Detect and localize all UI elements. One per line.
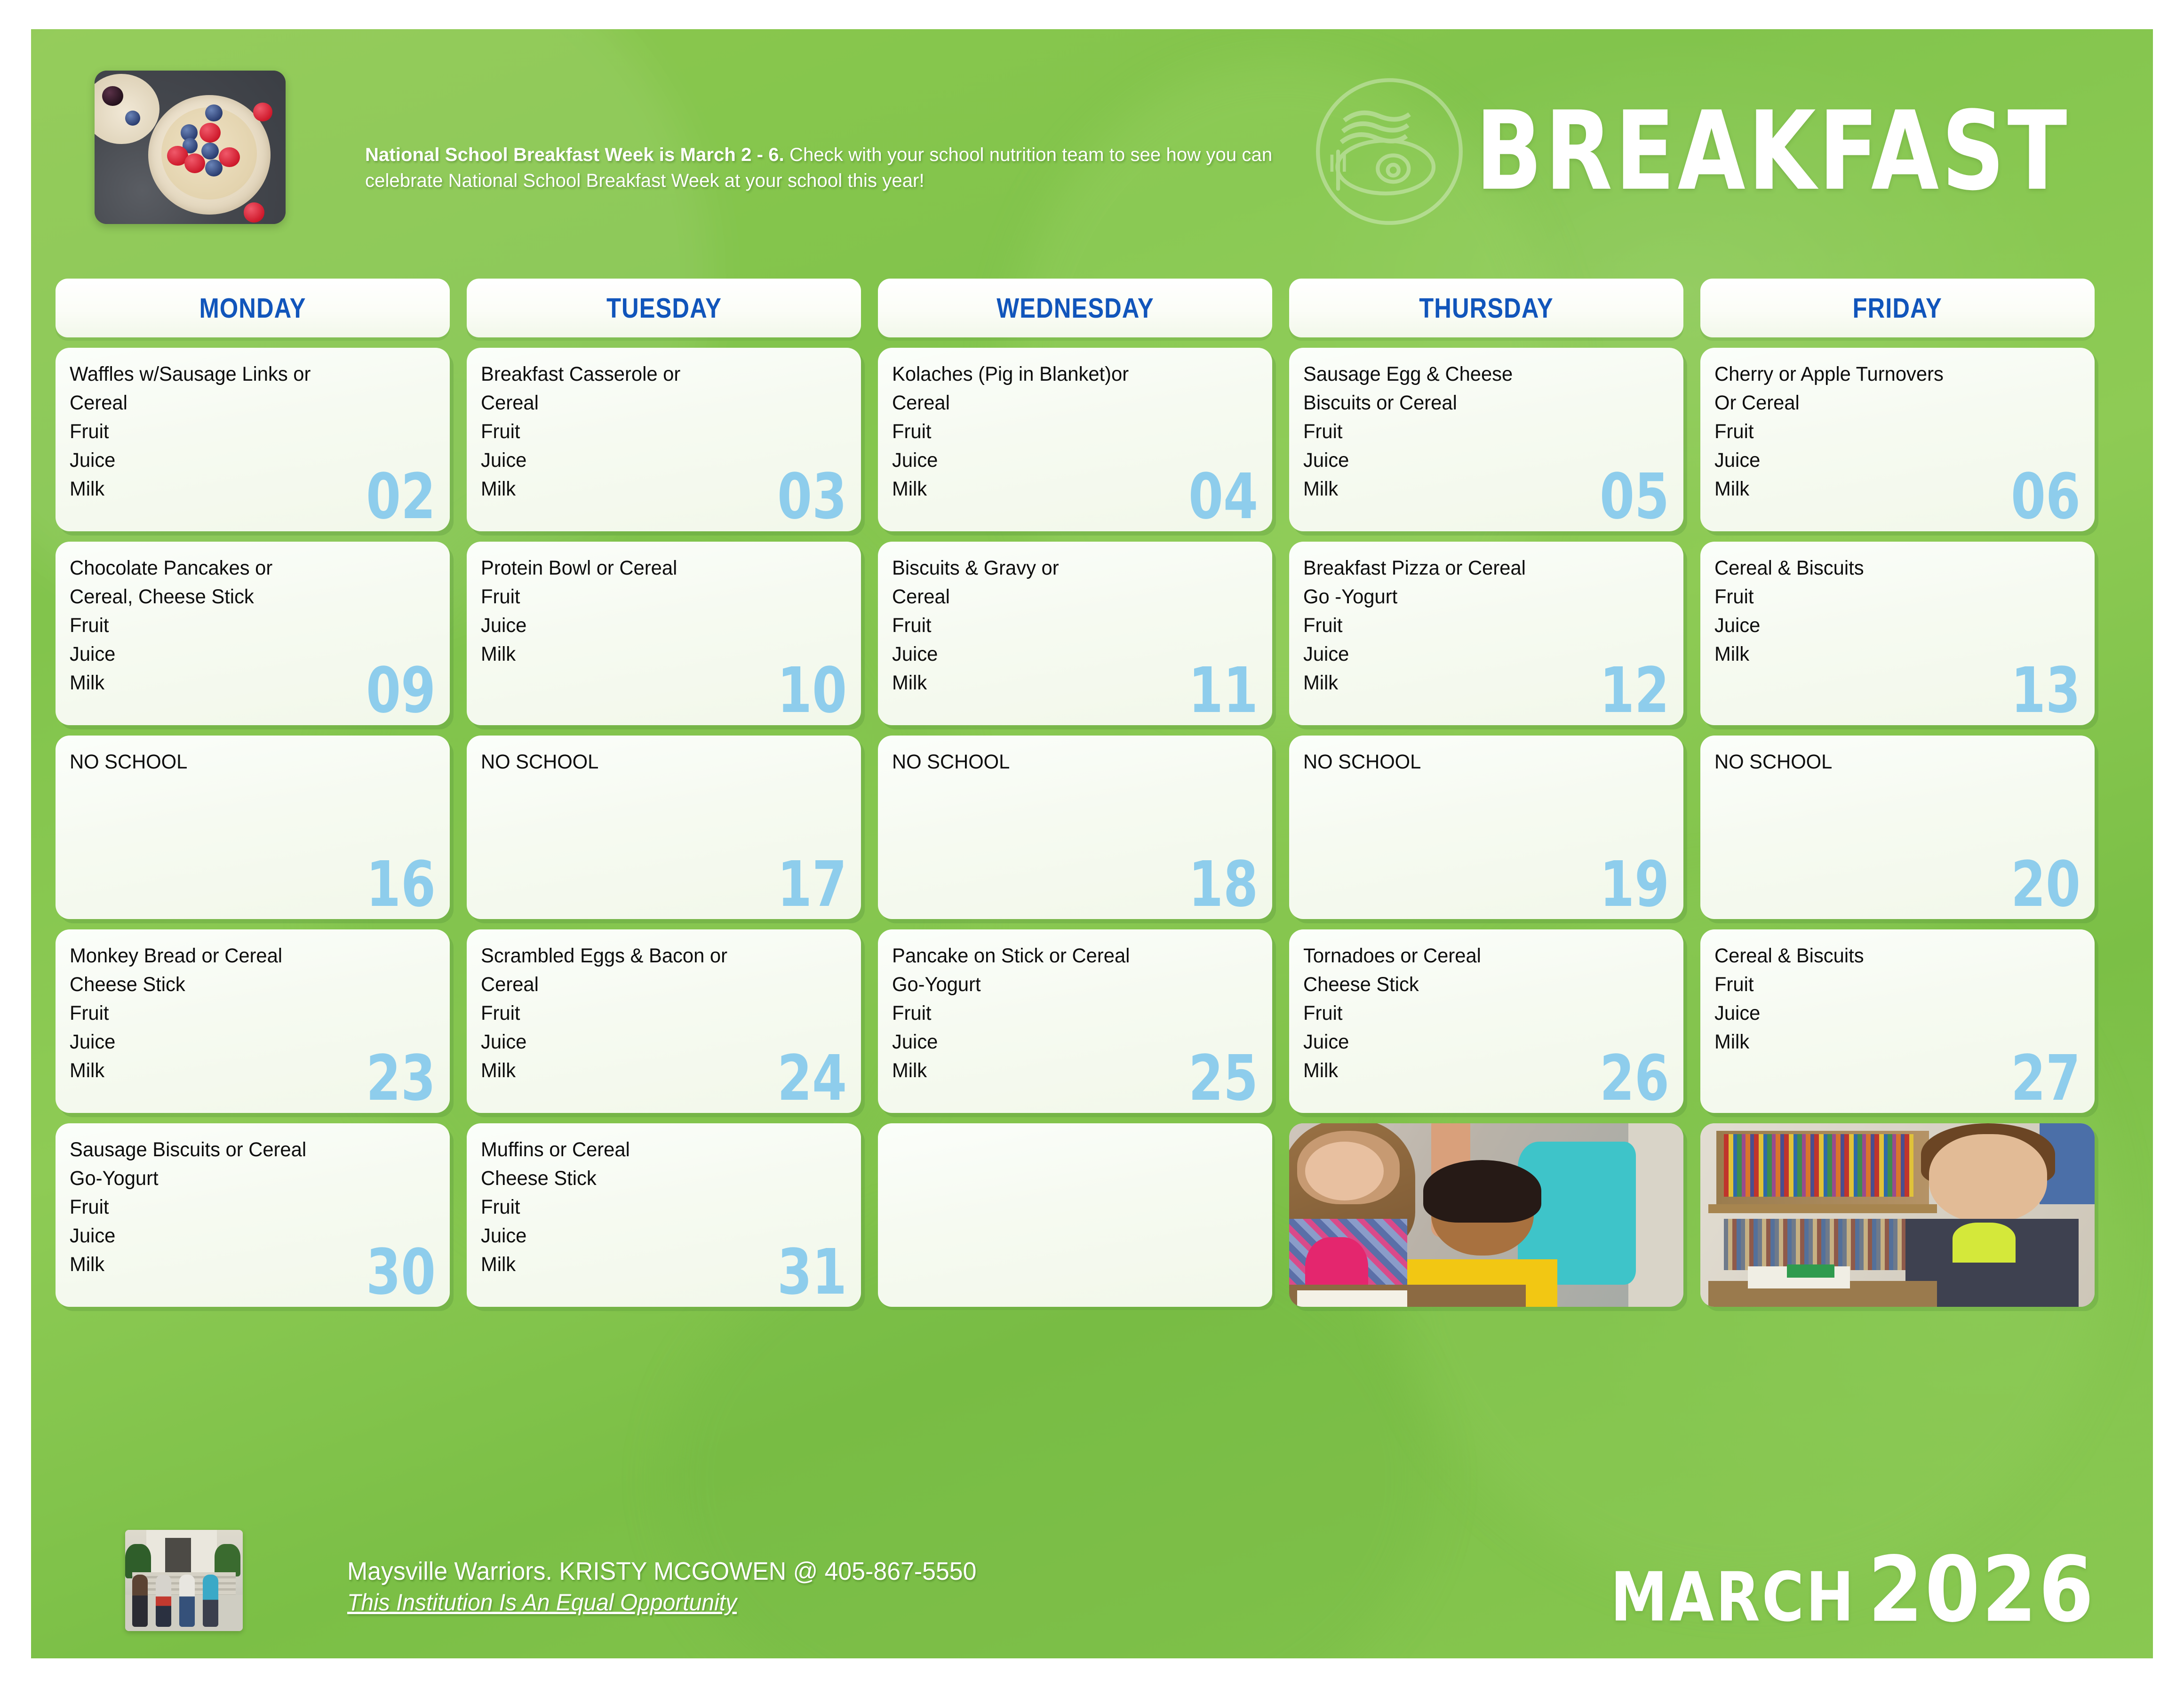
calendar-cell-menu[interactable]: Sausage Egg & CheeseBiscuits or CerealFr… (1289, 348, 1683, 531)
calendar-cell-menu[interactable]: Cereal & BiscuitsFruitJuiceMilk13 (1700, 542, 2095, 725)
menu-item: Milk (481, 475, 836, 504)
menu-item: Or Cereal (1714, 389, 2070, 417)
menu-item: Cereal (892, 389, 1247, 417)
menu-item: Juice (1714, 611, 2070, 640)
school-contact-line: Maysville Warriors. KRISTY MCGOWEN @ 405… (347, 1556, 976, 1588)
calendar-cell-menu[interactable]: Breakfast Pizza or CerealGo -YogurtFruit… (1289, 542, 1683, 725)
menu-item: Milk (481, 1250, 836, 1279)
menu-item: Breakfast Pizza or Cereal (1303, 554, 1658, 583)
menu-item: Protein Bowl or Cereal (481, 554, 836, 583)
menu-item: Scrambled Eggs & Bacon or (481, 942, 836, 970)
menu-item: Milk (892, 669, 1247, 697)
menu-item: Fruit (892, 417, 1247, 446)
menu-item: Milk (1303, 669, 1658, 697)
promo-text-bold: National School Breakfast Week is March … (365, 144, 784, 165)
menu-item: Cereal (481, 970, 836, 999)
menu-item: Go-Yogurt (70, 1164, 425, 1193)
menu-item-list: NO SCHOOL (481, 748, 847, 776)
menu-item: Cereal & Biscuits (1714, 942, 2070, 970)
oatmeal-berries-photo (95, 71, 286, 224)
calendar-cell-no-school[interactable]: NO SCHOOL16 (56, 736, 450, 919)
brand-lockup: BREAKFAST (1312, 74, 2101, 229)
menu-item: Fruit (70, 999, 425, 1028)
calendar-cell-menu[interactable]: Waffles w/Sausage Links orCerealFruitJui… (56, 348, 450, 531)
menu-item: Juice (1303, 446, 1658, 475)
calendar-cell-no-school[interactable]: NO SCHOOL19 (1289, 736, 1683, 919)
date-number: 18 (1188, 854, 1258, 916)
day-header-label: TUESDAY (606, 292, 721, 324)
breakfast-menu-poster: National School Breakfast Week is March … (31, 29, 2153, 1658)
menu-item: Milk (1714, 475, 2070, 504)
menu-item-list: Breakfast Casserole orCerealFruitJuiceMi… (481, 360, 847, 504)
menu-item: NO SCHOOL (481, 748, 836, 776)
menu-item: Milk (481, 640, 836, 669)
calendar-cell-menu[interactable]: Chocolate Pancakes orCereal, Cheese Stic… (56, 542, 450, 725)
menu-item: NO SCHOOL (1714, 748, 2070, 776)
calendar-cell-menu[interactable]: Scrambled Eggs & Bacon orCerealFruitJuic… (467, 929, 861, 1113)
day-header-thursday: THURSDAY (1289, 279, 1683, 337)
calendar-cell-no-school[interactable]: NO SCHOOL17 (467, 736, 861, 919)
menu-item: Milk (481, 1056, 836, 1085)
menu-item: Breakfast Casserole or (481, 360, 836, 389)
menu-item: Juice (892, 446, 1247, 475)
menu-item: Biscuits & Gravy or (892, 554, 1247, 583)
calendar-cell-no-school[interactable]: NO SCHOOL20 (1700, 736, 2095, 919)
month-year-label: MARCH 2026 (1610, 1544, 2096, 1636)
day-header-label: THURSDAY (1419, 292, 1553, 324)
menu-item: Fruit (70, 1193, 425, 1222)
menu-item-list: NO SCHOOL (70, 748, 436, 776)
menu-item: Sausage Egg & Cheese (1303, 360, 1658, 389)
menu-item: Fruit (481, 1193, 836, 1222)
menu-item: Juice (481, 611, 836, 640)
menu-item: Kolaches (Pig in Blanket)or (892, 360, 1247, 389)
menu-item: Juice (1303, 640, 1658, 669)
date-number: 10 (777, 660, 847, 722)
calendar-cell-menu[interactable]: Cherry or Apple TurnoversOr CerealFruitJ… (1700, 348, 2095, 531)
menu-item: Fruit (1303, 611, 1658, 640)
menu-item: Milk (1303, 475, 1658, 504)
menu-item: Juice (892, 1028, 1247, 1056)
menu-item: Cereal (481, 389, 836, 417)
menu-item: Cereal (70, 389, 425, 417)
calendar-cell-menu[interactable]: Kolaches (Pig in Blanket)orCerealFruitJu… (878, 348, 1272, 531)
date-number: 17 (777, 854, 847, 916)
calendar-cell-menu[interactable]: Cereal & BiscuitsFruitJuiceMilk27 (1700, 929, 2095, 1113)
brand-title: BREAKFAST (1475, 97, 2070, 206)
menu-item-list: Chocolate Pancakes orCereal, Cheese Stic… (70, 554, 436, 697)
menu-item: Milk (892, 475, 1247, 504)
date-number: 20 (2011, 854, 2080, 916)
menu-item: Juice (1714, 446, 2070, 475)
menu-item: Fruit (892, 999, 1247, 1028)
menu-item: Cherry or Apple Turnovers (1714, 360, 2070, 389)
menu-item-list: NO SCHOOL (1303, 748, 1669, 776)
menu-item: Milk (70, 1250, 425, 1279)
menu-item: Cereal & Biscuits (1714, 554, 2070, 583)
menu-item: Fruit (1303, 417, 1658, 446)
day-header-friday: FRIDAY (1700, 279, 2095, 337)
students-entering-school-photo (125, 1530, 243, 1631)
menu-item-list: Protein Bowl or CerealFruitJuiceMilk (481, 554, 847, 669)
menu-item: Fruit (481, 417, 836, 446)
menu-item: Fruit (70, 611, 425, 640)
week-row: NO SCHOOL16NO SCHOOL17NO SCHOOL18NO SCHO… (56, 736, 2130, 919)
day-header-tuesday: TUESDAY (467, 279, 861, 337)
menu-item: Fruit (1714, 583, 2070, 611)
week-row: Monkey Bread or CerealCheese StickFruitJ… (56, 929, 2130, 1113)
equal-opportunity-statement: This Institution Is An Equal Opportunity (347, 1587, 976, 1618)
day-header-label: FRIDAY (1853, 292, 1942, 324)
menu-item-list: NO SCHOOL (892, 748, 1258, 776)
menu-item-list: Sausage Egg & CheeseBiscuits or CerealFr… (1303, 360, 1669, 504)
calendar-cell-menu[interactable]: Tornadoes or CerealCheese StickFruitJuic… (1289, 929, 1683, 1113)
menu-item: Juice (70, 640, 425, 669)
calendar-cell-menu[interactable]: Monkey Bread or CerealCheese StickFruitJ… (56, 929, 450, 1113)
year-label: 2026 (1868, 1537, 2096, 1642)
menu-item: Milk (70, 475, 425, 504)
students-classroom-raising-hand-photo (1289, 1123, 1683, 1307)
menu-item-list: Sausage Biscuits or CerealGo-YogurtFruit… (70, 1136, 436, 1279)
breakfast-plate-icon (1312, 74, 1467, 229)
calendar-cell-menu[interactable]: Muffins or CerealCheese StickFruitJuiceM… (467, 1123, 861, 1307)
menu-item: NO SCHOOL (70, 748, 425, 776)
day-header-monday: MONDAY (56, 279, 450, 337)
menu-item: Cheese Stick (481, 1164, 836, 1193)
menu-item: Juice (481, 446, 836, 475)
menu-item-list: Cereal & BiscuitsFruitJuiceMilk (1714, 942, 2080, 1056)
menu-item-list: Kolaches (Pig in Blanket)orCerealFruitJu… (892, 360, 1258, 504)
menu-item: Fruit (1303, 999, 1658, 1028)
menu-item: Pancake on Stick or Cereal (892, 942, 1247, 970)
calendar-cell-menu[interactable]: Breakfast Casserole orCerealFruitJuiceMi… (467, 348, 861, 531)
date-number: 16 (366, 854, 436, 916)
menu-item: Go-Yogurt (892, 970, 1247, 999)
student-library-photo (1700, 1123, 2095, 1307)
date-number: 27 (2011, 1048, 2080, 1110)
menu-item: Juice (70, 1028, 425, 1056)
menu-item-list: Tornadoes or CerealCheese StickFruitJuic… (1303, 942, 1669, 1085)
menu-item: Juice (1303, 1028, 1658, 1056)
poster-footer: Maysville Warriors. KRISTY MCGOWEN @ 405… (31, 1517, 2153, 1658)
menu-item: Milk (70, 1056, 425, 1085)
menu-item: Biscuits or Cereal (1303, 389, 1658, 417)
menu-item: Tornadoes or Cereal (1303, 942, 1658, 970)
week-row: Waffles w/Sausage Links orCerealFruitJui… (56, 348, 2130, 531)
menu-item-list: Biscuits & Gravy orCerealFruitJuiceMilk (892, 554, 1258, 697)
menu-item: Cereal, Cheese Stick (70, 583, 425, 611)
promo-text: National School Breakfast Week is March … (365, 142, 1287, 194)
date-number: 19 (1600, 854, 1669, 916)
day-header-wednesday: WEDNESDAY (878, 279, 1272, 337)
week-row: Sausage Biscuits or CerealGo-YogurtFruit… (56, 1123, 2130, 1307)
menu-item-list: Waffles w/Sausage Links orCerealFruitJui… (70, 360, 436, 504)
menu-item-list: NO SCHOOL (1714, 748, 2080, 776)
menu-item: Milk (892, 1056, 1247, 1085)
menu-item: Cheese Stick (70, 970, 425, 999)
day-header-label: WEDNESDAY (996, 292, 1154, 324)
menu-item-list: Breakfast Pizza or CerealGo -YogurtFruit… (1303, 554, 1669, 697)
menu-item: Milk (1714, 640, 2070, 669)
calendar-cell-menu[interactable]: Protein Bowl or CerealFruitJuiceMilk10 (467, 542, 861, 725)
menu-item: Chocolate Pancakes or (70, 554, 425, 583)
menu-item: Milk (1303, 1056, 1658, 1085)
menu-item: Fruit (1714, 417, 2070, 446)
menu-item: Juice (70, 446, 425, 475)
menu-item: Juice (70, 1222, 425, 1250)
menu-item: Fruit (1714, 970, 2070, 999)
day-header-label: MONDAY (199, 292, 306, 324)
menu-item: Fruit (892, 611, 1247, 640)
menu-item: Juice (481, 1028, 836, 1056)
poster-header: National School Breakfast Week is March … (31, 29, 2153, 274)
menu-item: Sausage Biscuits or Cereal (70, 1136, 425, 1164)
menu-item: NO SCHOOL (892, 748, 1247, 776)
menu-item: Juice (1714, 999, 2070, 1028)
calendar-cell-empty (878, 1123, 1272, 1307)
menu-item: Juice (481, 1222, 836, 1250)
calendar-cell-menu[interactable]: Pancake on Stick or CerealGo-YogurtFruit… (878, 929, 1272, 1113)
menu-item-list: Muffins or CerealCheese StickFruitJuiceM… (481, 1136, 847, 1279)
menu-item: Go -Yogurt (1303, 583, 1658, 611)
menu-item-list: Cherry or Apple TurnoversOr CerealFruitJ… (1714, 360, 2080, 504)
menu-item-list: Cereal & BiscuitsFruitJuiceMilk (1714, 554, 2080, 669)
menu-item: Milk (70, 669, 425, 697)
month-label: MARCH (1610, 1558, 1856, 1637)
date-number: 13 (2011, 660, 2080, 722)
menu-item: Monkey Bread or Cereal (70, 942, 425, 970)
footer-contact-block: Maysville Warriors. KRISTY MCGOWEN @ 405… (347, 1556, 1003, 1618)
calendar-grid: MONDAY TUESDAY WEDNESDAY THURSDAY FRIDAY… (56, 279, 2130, 1317)
menu-item: Muffins or Cereal (481, 1136, 836, 1164)
menu-item: Cheese Stick (1303, 970, 1658, 999)
menu-item: Fruit (481, 999, 836, 1028)
week-row: Chocolate Pancakes orCereal, Cheese Stic… (56, 542, 2130, 725)
menu-item-list: Monkey Bread or CerealCheese StickFruitJ… (70, 942, 436, 1085)
calendar-cell-no-school[interactable]: NO SCHOOL18 (878, 736, 1272, 919)
menu-item: NO SCHOOL (1303, 748, 1658, 776)
menu-item: Fruit (481, 583, 836, 611)
menu-item: Waffles w/Sausage Links or (70, 360, 425, 389)
calendar-cell-menu[interactable]: Sausage Biscuits or CerealGo-YogurtFruit… (56, 1123, 450, 1307)
menu-item: Milk (1714, 1028, 2070, 1056)
day-header-row: MONDAY TUESDAY WEDNESDAY THURSDAY FRIDAY (56, 279, 2130, 337)
menu-item: Fruit (70, 417, 425, 446)
calendar-cell-menu[interactable]: Biscuits & Gravy orCerealFruitJuiceMilk1… (878, 542, 1272, 725)
menu-item-list: Scrambled Eggs & Bacon orCerealFruitJuic… (481, 942, 847, 1085)
menu-item-list: Pancake on Stick or CerealGo-YogurtFruit… (892, 942, 1258, 1085)
menu-item: Cereal (892, 583, 1247, 611)
menu-item: Juice (892, 640, 1247, 669)
